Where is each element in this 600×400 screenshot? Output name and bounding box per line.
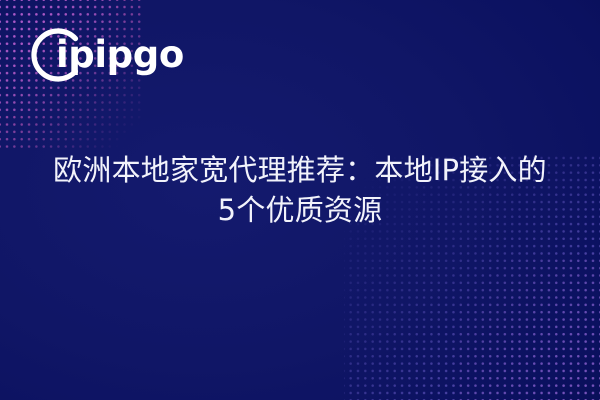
brand-wordmark: ipipgo [56,26,184,84]
brand-logo[interactable]: ipipgo [30,26,184,84]
page-title: 欧洲本地家宽代理推荐：本地IP接入的5个优质资源 [46,150,554,230]
title-block: 欧洲本地家宽代理推荐：本地IP接入的5个优质资源 [0,150,600,230]
promo-banner: ipipgo 欧洲本地家宽代理推荐：本地IP接入的5个优质资源 [0,0,600,400]
dot-grid-icon-bottom-right-accent [454,254,600,400]
